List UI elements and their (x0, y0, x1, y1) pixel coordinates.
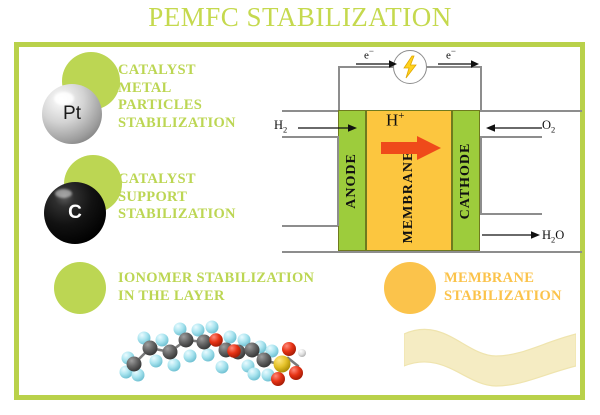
bullet-label-ionomer: IONOMER STABILIZATION IN THE LAYER (118, 270, 358, 305)
page-title: PEMFC STABILIZATION (0, 2, 600, 33)
poster-canvas: PEMFC STABILIZATION Pt CATALYST METAL PA… (0, 0, 600, 415)
sulfonate-oxygen-1 (282, 342, 296, 356)
platinum-particle-sphere: Pt (42, 84, 102, 144)
cell-bottom-rail (282, 251, 582, 253)
membrane-sheet-illustration (404, 322, 576, 388)
cathode-layer: CATHODE (452, 110, 480, 251)
platinum-sphere-label: Pt (42, 84, 102, 144)
membrane-layer: MEMBRANE (366, 110, 452, 251)
carbon-sphere-label: C (44, 182, 106, 244)
proton-label: . (385, 63, 389, 83)
hydrogen-channel-right (337, 136, 339, 226)
bullet-label-membrane: MEMBRANE STABILIZATION (444, 270, 594, 305)
ether-oxygen-2 (227, 344, 241, 358)
electron-arrow-left-icon (356, 58, 398, 70)
hydrogen-channel-bottom (282, 225, 338, 227)
lightning-bolt-icon (394, 51, 426, 83)
oxygen-inlet-arrow-icon (486, 122, 542, 134)
oxygen-inlet-label: O2 (542, 118, 555, 135)
hydrogen-channel-top (282, 136, 338, 138)
hydrogen-inlet-arrow-icon (298, 122, 358, 134)
sulfonate-oxygen-2 (271, 372, 285, 386)
membrane-label: MEMBRANE (401, 151, 417, 244)
bullet-marker-ionomer (54, 262, 106, 314)
water-outlet-label: H2O (542, 228, 564, 245)
sulfur-atom (274, 356, 291, 373)
sulfonate-oxygen-3 (289, 366, 303, 380)
oxygen-channel-bottom (480, 213, 542, 215)
circuit-wire-left-riser (338, 66, 340, 110)
ionomer-molecule-model (112, 318, 322, 390)
electron-arrow-right-icon (438, 58, 480, 70)
acidic-hydrogen (298, 349, 306, 357)
anode-label: ANODE (344, 153, 360, 209)
bullet-label-catalyst-metal: CATALYST METAL PARTICLES STABILIZATION (118, 62, 288, 132)
water-outlet-arrow-icon (482, 229, 540, 241)
proton-symbol: H+ (386, 110, 405, 131)
oxygen-channel-left (480, 136, 482, 214)
oxygen-channel-top (480, 136, 542, 138)
fuel-cell-diagram: e− e− ANODE MEMBRANE CATHODE . (276, 48, 582, 258)
cathode-label: CATHODE (458, 142, 474, 219)
hydrogen-inlet-label: H2 (274, 118, 287, 135)
carbon-support-sphere: C (44, 182, 106, 244)
proton-flow-arrow-icon (381, 136, 443, 160)
bullet-marker-membrane (384, 262, 436, 314)
ether-oxygen-1 (209, 333, 223, 347)
load-lamp-circle (393, 50, 427, 84)
bullet-label-catalyst-support: CATALYST SUPPORT STABILIZATION (118, 171, 288, 224)
circuit-wire-right-riser (480, 66, 482, 110)
